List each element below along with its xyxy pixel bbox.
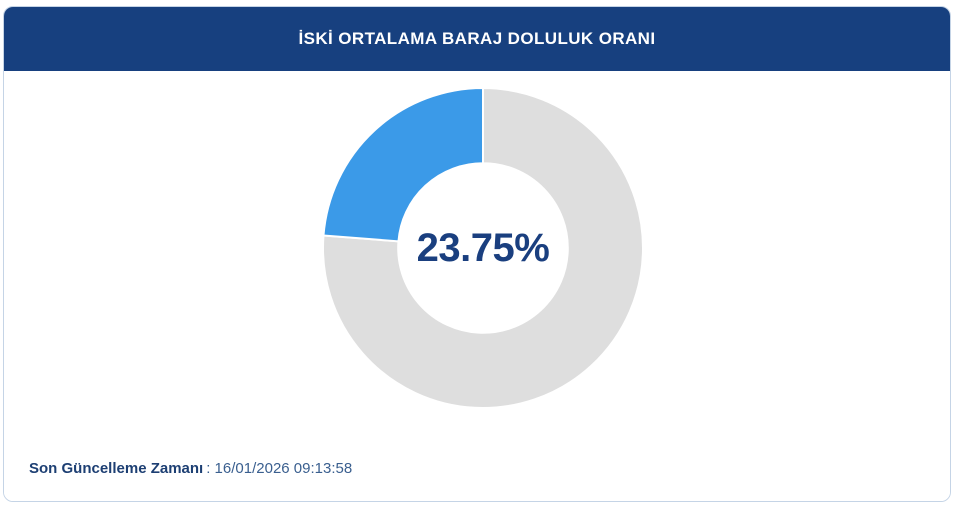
card-body: 23.75% Son Güncelleme Zamanı : 16/01/202… <box>4 71 950 501</box>
donut-slice-filled[interactable] <box>323 88 483 241</box>
last-update-label: Son Güncelleme Zamanı <box>29 460 203 477</box>
chart-area: 23.75% <box>4 71 950 501</box>
last-update-timestamp: : 16/01/2026 09:13:58 <box>206 460 352 477</box>
card-header: İSKİ ORTALAMA BARAJ DOLULUK ORANI <box>4 7 950 71</box>
donut-chart: 23.75% <box>321 86 645 410</box>
dam-occupancy-card: İSKİ ORTALAMA BARAJ DOLULUK ORANI 23.75%… <box>3 6 951 502</box>
donut-chart-svg <box>321 86 645 410</box>
page-title: İSKİ ORTALAMA BARAJ DOLULUK ORANI <box>299 29 656 49</box>
last-update-footer: Son Güncelleme Zamanı : 16/01/2026 09:13… <box>29 460 352 477</box>
